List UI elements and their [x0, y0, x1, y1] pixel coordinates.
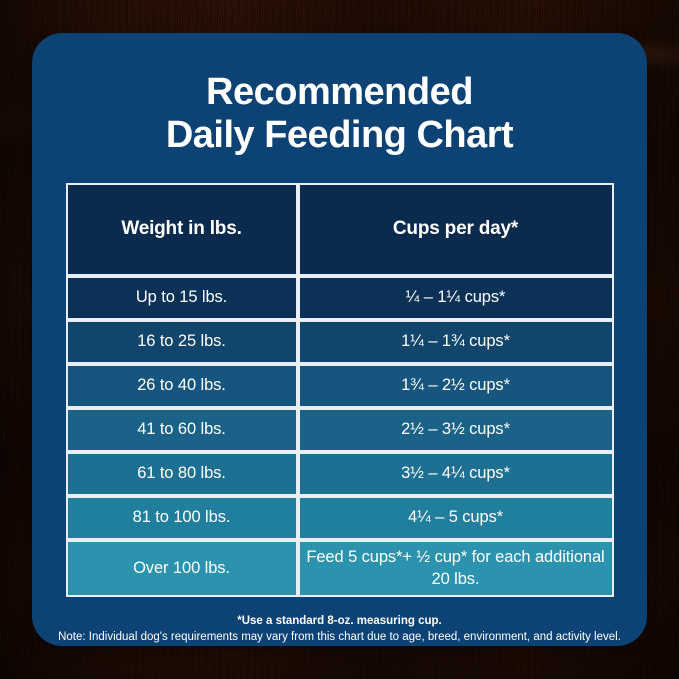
- page-title-line-2: Daily Feeding Chart: [56, 114, 623, 157]
- column-header-weight: Weight in lbs.: [66, 183, 298, 276]
- cell-cups: 1¼ – 1¾ cups*: [298, 320, 614, 364]
- cell-cups: 2½ – 3½ cups*: [298, 408, 614, 452]
- feeding-chart-card: Recommended Daily Feeding Chart Weight i…: [32, 33, 647, 646]
- cell-weight: 41 to 60 lbs.: [66, 408, 298, 452]
- cell-weight: Up to 15 lbs.: [66, 276, 298, 320]
- table-row: 41 to 60 lbs. 2½ – 3½ cups*: [66, 408, 614, 452]
- cell-cups: 1¾ – 2½ cups*: [298, 364, 614, 408]
- table-row: 16 to 25 lbs. 1¼ – 1¾ cups*: [66, 320, 614, 364]
- cell-cups: ¼ – 1¼ cups*: [298, 276, 614, 320]
- table-row: Up to 15 lbs. ¼ – 1¼ cups*: [66, 276, 614, 320]
- footnotes: *Use a standard 8-oz. measuring cup. Not…: [32, 613, 647, 646]
- table-row: 26 to 40 lbs. 1¾ – 2½ cups*: [66, 364, 614, 408]
- footnote-measuring-cup: *Use a standard 8-oz. measuring cup.: [46, 613, 633, 630]
- column-header-cups: Cups per day*: [298, 183, 614, 276]
- cell-weight: Over 100 lbs.: [66, 540, 298, 597]
- cell-cups: 3½ – 4¼ cups*: [298, 452, 614, 496]
- table-header-row: Weight in lbs. Cups per day*: [66, 183, 614, 276]
- table-row: 81 to 100 lbs. 4¼ – 5 cups*: [66, 496, 614, 540]
- cell-weight: 61 to 80 lbs.: [66, 452, 298, 496]
- cell-cups: 4¼ – 5 cups*: [298, 496, 614, 540]
- cell-weight: 16 to 25 lbs.: [66, 320, 298, 364]
- cell-weight: 26 to 40 lbs.: [66, 364, 298, 408]
- cell-weight: 81 to 100 lbs.: [66, 496, 298, 540]
- footnote-note-line-1: Note: Individual dog's requirements may …: [46, 629, 633, 646]
- page-title: Recommended Daily Feeding Chart: [32, 71, 647, 158]
- page-title-line-1: Recommended: [56, 71, 623, 114]
- cell-cups: Feed 5 cups*+ ½ cup* for each additional…: [298, 540, 614, 597]
- table-row: 61 to 80 lbs. 3½ – 4¼ cups*: [66, 452, 614, 496]
- feeding-chart-table: Weight in lbs. Cups per day* Up to 15 lb…: [66, 183, 614, 597]
- table-row: Over 100 lbs. Feed 5 cups*+ ½ cup* for e…: [66, 540, 614, 597]
